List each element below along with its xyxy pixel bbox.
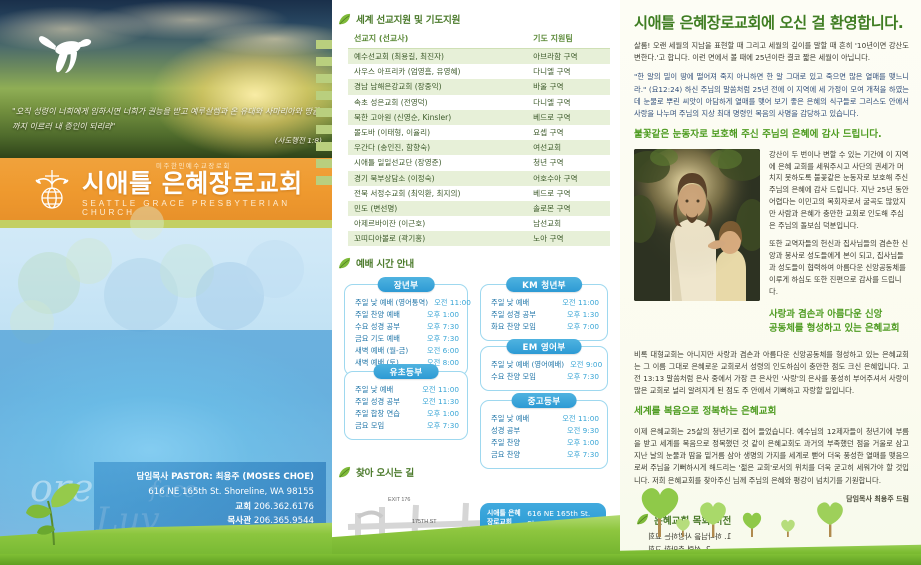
service-row: 수요 성경 공부오후 7:30	[355, 321, 459, 333]
prayer-team-cell: 베드로 구역	[527, 186, 610, 201]
bottom-green-strip	[0, 554, 921, 565]
table-row: 아제르바이잔 (이근호)남선교회	[348, 216, 610, 231]
address-line: 616 NE 165th St. Shoreline, WA 98155	[94, 485, 314, 500]
table-row: 북한 고아원 (신영순, Kinsler)베드로 구역	[348, 110, 610, 125]
service-name: 주일 찬양	[491, 437, 520, 449]
svg-text:EXIT 176: EXIT 176	[388, 497, 410, 503]
services-section-header: 예배 시간 안내	[338, 256, 620, 270]
service-name: 주일 낮 예배	[355, 384, 393, 396]
leaf-icon	[338, 13, 351, 26]
side-paragraph-1: 강산이 두 번이나 변할 수 있는 기간에 이 지역에 은혜 교회를 세워주시고…	[769, 149, 909, 232]
service-time: 오전 6:00	[421, 345, 459, 357]
service-box-title: 중고등부	[512, 393, 577, 408]
service-row: 주일 성경 공부오후 1:30	[491, 309, 599, 321]
church-logo-band: 미주한인예수교장로회 시애틀 은혜장로교회 SEATTLE GRACE PRES…	[0, 158, 332, 220]
dove-icon	[38, 28, 94, 76]
service-time: 오후 1:00	[421, 309, 459, 321]
service-name: 주일 성경 공부	[355, 396, 400, 408]
service-name: 새벽 예배 (월-금)	[355, 345, 408, 357]
body-paragraph-3: 이제 은혜교회는 25살의 청년기로 접어 들었습니다. 예수님의 12제자들이…	[634, 426, 909, 487]
service-time: 오전 11:00	[556, 413, 599, 425]
service-time: 오전 11:30	[416, 396, 459, 408]
mission-field-cell: 몰도바 (이태형, 이율리)	[348, 125, 527, 140]
prayer-team-cell: 아브라함 구역	[527, 49, 610, 65]
service-name: 수요 찬양 모임	[491, 371, 536, 383]
service-row: 주일 찬양 예배오후 1:00	[355, 309, 459, 321]
service-time: 오후 1:30	[561, 309, 599, 321]
service-time: 오후 1:00	[561, 437, 599, 449]
photo-and-text-row: 강산이 두 번이나 변할 수 있는 기간에 이 지역에 은혜 교회를 세워주시고…	[634, 149, 909, 342]
church-name-en: SEATTLE GRACE PRESBYTERIAN CHURCH	[82, 199, 332, 217]
service-row: 주일 합창 연습오후 1:00	[355, 408, 459, 420]
sprout-leaf-icon	[24, 475, 84, 545]
bokeh-circle	[66, 238, 112, 284]
right-panel: 시애틀 은혜장로교회에 오신 걸 환영합니다. 살롬! 오랜 세월의 지남을 표…	[620, 0, 921, 565]
table-row: 경남 남해은강교회 (장중익)바울 구역	[348, 79, 610, 94]
service-name: 주일 성경 공부	[491, 309, 536, 321]
service-row: 수요 찬양 모임오후 7:30	[491, 371, 599, 383]
heart-trees-decoration	[620, 483, 921, 545]
church-globe-cross-logo-icon	[32, 167, 72, 211]
service-name: 화요 찬양 모임	[491, 321, 536, 333]
service-time: 오후 1:00	[421, 408, 459, 420]
service-name: 주일 낮 예배 (영어통역)	[355, 297, 428, 309]
leaf-icon	[338, 257, 351, 270]
mission-field-cell: 아제르바이잔 (이근호)	[348, 216, 527, 231]
missions-title: 세계 선교지원 및 기도지원	[356, 12, 460, 26]
service-row: 주일 성경 공부오전 11:30	[355, 396, 459, 408]
mission-field-cell: 우간다 (송인진, 함향숙)	[348, 140, 527, 155]
service-time: 오전 9:00	[564, 359, 602, 371]
mission-field-cell: 예수선교회 (최용길, 최진자)	[348, 49, 527, 65]
table-row: 경기 북부상담소 (이정숙)어호수아 구역	[348, 171, 610, 186]
col-header-field: 선교지 (선교사)	[348, 31, 527, 49]
intro-paragraph: 살롬! 오랜 세월의 지남을 표현할 때 그리고 세월의 깊이를 말할 때 흔히…	[634, 40, 909, 64]
service-time: 오전 11:00	[556, 297, 599, 309]
prayer-team-cell: 청년 구역	[527, 155, 610, 170]
service-row: 화요 찬양 모임오후 7:00	[491, 321, 599, 333]
service-name: 금요 모임	[355, 420, 384, 432]
verse-reference: (사도행전 1:8)	[12, 134, 322, 148]
service-box-title: EM 영어부	[507, 339, 582, 354]
table-row: 속초 성은교회 (전영덕)다니엘 구역	[348, 95, 610, 110]
service-schedule-area: 장년부 주일 낮 예배 (영어통역)오전 11:00주일 찬양 예배오후 1:0…	[332, 278, 620, 443]
green-heading-2: 사랑과 겸손과 아름다운 신앙 공동체를 형성하고 있는 은혜교회	[769, 308, 909, 336]
pastor-line: 담임목사 PASTOR: 최용주 (MOSES CHOE)	[94, 470, 314, 485]
service-row: 주일 낮 예배 (영어예배)오전 9:00	[491, 359, 599, 371]
service-box-adult: 장년부 주일 낮 예배 (영어통역)오전 11:00주일 찬양 예배오후 1:0…	[344, 284, 468, 376]
prayer-team-cell: 바울 구역	[527, 79, 610, 94]
service-row: 금요 기도 예배오후 7:30	[355, 333, 459, 345]
directions-title: 찾아 오시는 길	[356, 465, 414, 479]
verse-text: "오직 성령이 너희에게 임하시면 너희가 권능을 받고 예루살렘과 온 유대와…	[12, 104, 322, 134]
table-header-row: 선교지 (선교사) 기도 지원팀	[348, 31, 610, 49]
prayer-team-cell: 노아 구역	[527, 231, 610, 246]
service-row: 금요 찬양오후 7:30	[491, 449, 599, 461]
service-box-children: 유초등부 주일 낮 예배오전 11:00주일 성경 공부오전 11:30주일 합…	[344, 371, 468, 439]
service-time: 오후 7:30	[561, 449, 599, 461]
church-phone: 206.362.6176	[254, 502, 314, 512]
service-row: 성경 공부오전 9:30	[491, 425, 599, 437]
bokeh-circle	[246, 240, 304, 298]
service-time: 오후 7:00	[561, 321, 599, 333]
col-header-team: 기도 지원팀	[527, 31, 610, 49]
service-row: 주일 낮 예배오전 11:00	[355, 384, 459, 396]
green-heading-3: 세계를 복음으로 정복하는 은혜교회	[634, 405, 909, 419]
service-row: 새벽 예배 (월-금)오전 6:00	[355, 345, 459, 357]
left-panel: "오직 성령이 너희에게 임하시면 너희가 권능을 받고 예루살렘과 온 유대와…	[0, 0, 332, 565]
mission-field-cell: 전북 서정수교회 (최익환, 최지의)	[348, 186, 527, 201]
table-row: 우간다 (송인진, 함향숙)여선교회	[348, 140, 610, 155]
prayer-team-cell: 다니엘 구역	[527, 64, 610, 79]
service-box-title: KM 청년부	[506, 277, 582, 292]
service-time: 오전 11:00	[416, 384, 459, 396]
mission-field-cell: 시애틀 일일선교단 (장영준)	[348, 155, 527, 170]
denomination-label: 미주한인예수교장로회	[156, 161, 332, 170]
brochure-page: "오직 성령이 너희에게 임하시면 너희가 권능을 받고 예루살렘과 온 유대와…	[0, 0, 921, 565]
mission-field-cell: 민도 (변선명)	[348, 201, 527, 216]
service-name: 주일 합창 연습	[355, 408, 400, 420]
service-row: 금요 모임오후 7:30	[355, 420, 459, 432]
leaf-icon	[338, 466, 351, 479]
green-heading-1: 불꽃같은 눈동자로 보호해 주신 주님의 은혜에 감사 드립니다.	[634, 128, 909, 142]
service-time: 오후 7:30	[421, 420, 459, 432]
service-name: 성경 공부	[491, 425, 520, 437]
jesus-with-child-photo	[634, 149, 760, 301]
mission-field-cell: 사우스 아프리카 (엄영흠, 유영혜)	[348, 64, 527, 79]
service-box-title: 장년부	[378, 277, 435, 292]
table-row: 전북 서정수교회 (최익환, 최지의)베드로 구역	[348, 186, 610, 201]
table-row: 예수선교회 (최용길, 최진자)아브라함 구역	[348, 49, 610, 65]
prayer-team-cell: 다니엘 구역	[527, 95, 610, 110]
table-row: 꼬띠디아볼로 (곽기홍)노아 구역	[348, 231, 610, 246]
service-name: 금요 기도 예배	[355, 333, 400, 345]
service-time: 오전 11:00	[428, 297, 471, 309]
service-name: 주일 낮 예배	[491, 413, 529, 425]
middle-panel: 세계 선교지원 및 기도지원 선교지 (선교사) 기도 지원팀 예수선교회 (최…	[332, 0, 620, 565]
mission-field-cell: 꼬띠디아볼로 (곽기홍)	[348, 231, 527, 246]
church-name-kr: 시애틀 은혜장로교회	[82, 171, 332, 197]
green-tick-decoration	[316, 40, 332, 193]
mission-field-cell: 경남 남해은강교회 (장중익)	[348, 79, 527, 94]
mission-field-cell: 경기 북부상담소 (이정숙)	[348, 171, 527, 186]
service-box-km-youth: KM 청년부 주일 낮 예배오전 11:00주일 성경 공부오후 1:30화요 …	[480, 284, 608, 340]
table-row: 민도 (변선명)솔로몬 구역	[348, 201, 610, 216]
table-row: 시애틀 일일선교단 (장영준)청년 구역	[348, 155, 610, 170]
prayer-team-cell: 베드로 구역	[527, 110, 610, 125]
service-name: 금요 찬양	[491, 449, 520, 461]
service-name: 주일 낮 예배 (영어예배)	[491, 359, 564, 371]
table-row: 몰도바 (이태형, 이율리)요셉 구역	[348, 125, 610, 140]
prayer-team-cell: 요셉 구역	[527, 125, 610, 140]
body-paragraph-2: 비록 대형교회는 아니지만 사랑과 겸손과 아름다운 신앙공동체를 형성하고 있…	[634, 349, 909, 397]
prayer-team-cell: 어호수아 구역	[527, 171, 610, 186]
service-row: 주일 낮 예배 (영어통역)오전 11:00	[355, 297, 459, 309]
services-title: 예배 시간 안내	[356, 256, 414, 270]
service-time: 오후 7:30	[421, 333, 459, 345]
missions-table: 선교지 (선교사) 기도 지원팀 예수선교회 (최용길, 최진자)아브라함 구역…	[348, 31, 610, 246]
mission-field-cell: 속초 성은교회 (전영덕)	[348, 95, 527, 110]
service-name: 주일 찬양 예배	[355, 309, 400, 321]
welcome-heading: 시애틀 은혜장로교회에 오신 걸 환영합니다.	[634, 14, 909, 32]
bokeh-circle	[130, 206, 164, 240]
service-time: 오후 7:30	[561, 371, 599, 383]
bible-verse-overlay: "오직 성령이 너희에게 임하시면 너희가 권능을 받고 예루살렘과 온 유대와…	[12, 104, 322, 148]
service-name: 수요 성경 공부	[355, 321, 400, 333]
scripture-quote-paragraph: "한 알의 밀이 땅에 떨어져 죽지 아니하면 한 알 그대로 있고 죽으면 많…	[634, 71, 909, 119]
service-box-em-english: EM 영어부 주일 낮 예배 (영어예배)오전 9:00수요 찬양 모임오후 7…	[480, 346, 608, 391]
service-row: 주일 낮 예배오전 11:00	[491, 413, 599, 425]
service-name: 주일 낮 예배	[491, 297, 529, 309]
service-box-youth: 중고등부 주일 낮 예배오전 11:00성경 공부오전 9:30주일 찬양오후 …	[480, 400, 608, 468]
missions-section-header: 세계 선교지원 및 기도지원	[338, 12, 620, 26]
service-box-title: 유초등부	[374, 364, 439, 379]
service-row: 주일 낮 예배오전 11:00	[491, 297, 599, 309]
svg-text:175TH ST: 175TH ST	[412, 519, 437, 525]
prayer-team-cell: 남선교회	[527, 216, 610, 231]
service-time: 오후 7:30	[421, 321, 459, 333]
service-row: 주일 찬양오후 1:00	[491, 437, 599, 449]
church-phone-label: 교회	[235, 502, 251, 512]
mission-field-cell: 북한 고아원 (신영순, Kinsler)	[348, 110, 527, 125]
prayer-team-cell: 여선교회	[527, 140, 610, 155]
table-row: 사우스 아프리카 (엄영흠, 유영혜)다니엘 구역	[348, 64, 610, 79]
side-paragraph-2: 또한 교역자들의 헌신과 집사님들의 겸손한 신앙과 봉사로 성도들에게 본이 …	[769, 238, 909, 297]
prayer-team-cell: 솔로몬 구역	[527, 201, 610, 216]
service-time: 오전 9:30	[561, 425, 599, 437]
